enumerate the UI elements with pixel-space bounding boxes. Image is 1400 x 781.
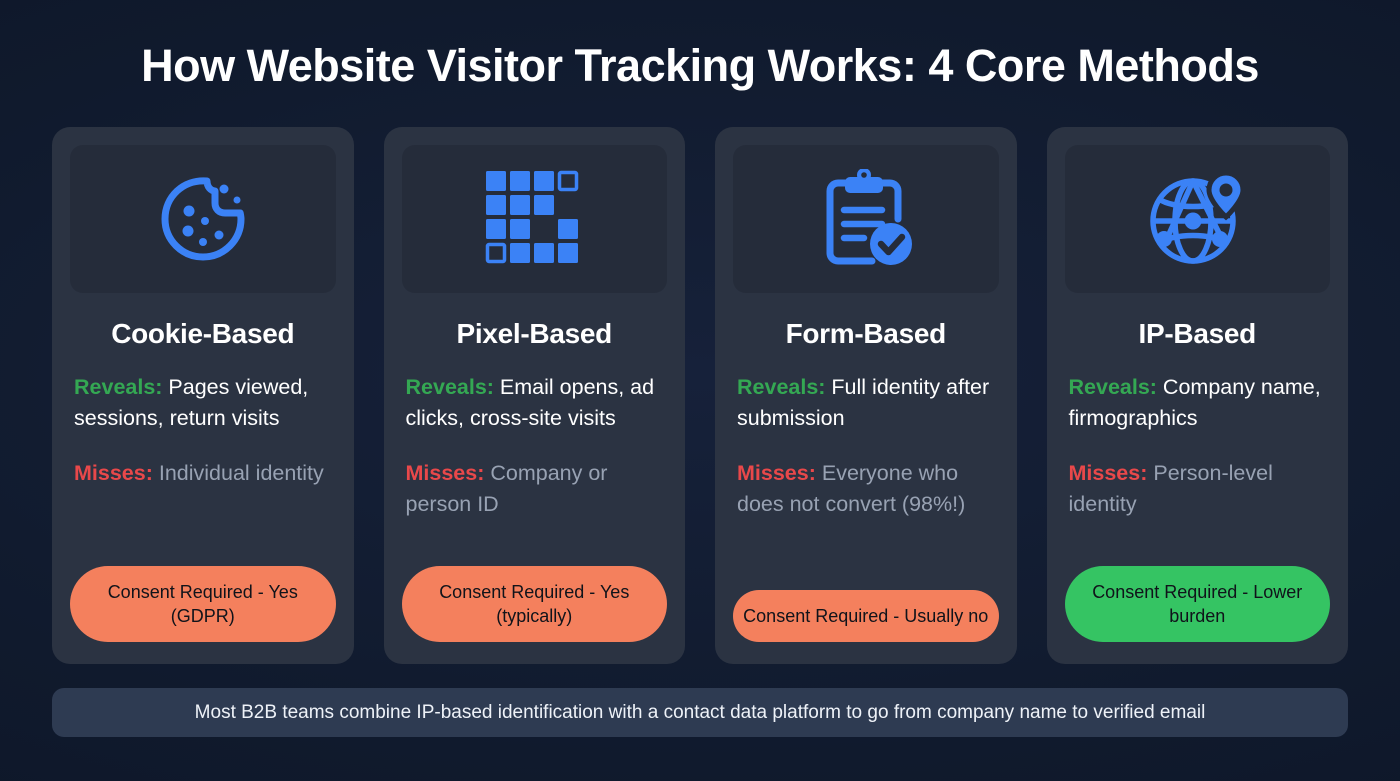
misses-label: Misses: bbox=[737, 461, 816, 485]
icon-tile bbox=[733, 145, 999, 293]
page-title: How Website Visitor Tracking Works: 4 Co… bbox=[0, 0, 1400, 89]
consent-badge[interactable]: Consent Required - Yes (typically) bbox=[402, 566, 668, 643]
card-facts: Reveals: Email opens, ad clicks, cross-s… bbox=[402, 372, 668, 565]
misses-value: Individual identity bbox=[153, 461, 324, 485]
card-facts: Reveals: Full identity after submission … bbox=[733, 372, 999, 590]
card-facts: Reveals: Pages viewed, sessions, return … bbox=[70, 372, 336, 565]
method-card-form-based[interactable]: Form-Based Reveals: Full identity after … bbox=[715, 127, 1017, 664]
icon-tile bbox=[70, 145, 336, 293]
icon-tile bbox=[1065, 145, 1331, 293]
reveals-label: Reveals: bbox=[406, 375, 494, 399]
misses-label: Misses: bbox=[406, 461, 485, 485]
method-card-pixel-based[interactable]: Pixel-Based Reveals: Email opens, ad cli… bbox=[384, 127, 686, 664]
method-card-cookie-based[interactable]: Cookie-Based Reveals: Pages viewed, sess… bbox=[52, 127, 354, 664]
globe-pin-icon bbox=[1147, 169, 1247, 269]
consent-badge[interactable]: Consent Required - Usually no bbox=[733, 590, 999, 642]
fact-reveals: Reveals: Full identity after submission bbox=[737, 372, 995, 434]
method-card-ip-based[interactable]: IP-Based Reveals: Company name, firmogra… bbox=[1047, 127, 1349, 664]
cookie-icon bbox=[153, 169, 253, 269]
fact-misses: Misses: Individual identity bbox=[74, 458, 332, 489]
misses-label: Misses: bbox=[74, 461, 153, 485]
reveals-label: Reveals: bbox=[737, 375, 825, 399]
reveals-label: Reveals: bbox=[1069, 375, 1157, 399]
misses-label: Misses: bbox=[1069, 461, 1148, 485]
pixel-grid-icon bbox=[484, 169, 584, 269]
clipboard-check-icon bbox=[816, 169, 916, 269]
fact-reveals: Reveals: Pages viewed, sessions, return … bbox=[74, 372, 332, 434]
card-title: IP-Based bbox=[1065, 318, 1331, 350]
icon-tile bbox=[402, 145, 668, 293]
method-card-row: Cookie-Based Reveals: Pages viewed, sess… bbox=[0, 127, 1400, 664]
consent-badge[interactable]: Consent Required - Lower burden bbox=[1065, 566, 1331, 643]
fact-misses: Misses: Everyone who does not convert (9… bbox=[737, 458, 995, 520]
consent-badge[interactable]: Consent Required - Yes (GDPR) bbox=[70, 566, 336, 643]
fact-misses: Misses: Company or person ID bbox=[406, 458, 664, 520]
footer-banner: Most B2B teams combine IP-based identifi… bbox=[52, 688, 1348, 737]
fact-reveals: Reveals: Email opens, ad clicks, cross-s… bbox=[406, 372, 664, 434]
card-title: Pixel-Based bbox=[402, 318, 668, 350]
fact-misses: Misses: Person-level identity bbox=[1069, 458, 1327, 520]
card-title: Form-Based bbox=[733, 318, 999, 350]
card-title: Cookie-Based bbox=[70, 318, 336, 350]
fact-reveals: Reveals: Company name, firmographics bbox=[1069, 372, 1327, 434]
card-facts: Reveals: Company name, firmographics Mis… bbox=[1065, 372, 1331, 565]
reveals-label: Reveals: bbox=[74, 375, 162, 399]
